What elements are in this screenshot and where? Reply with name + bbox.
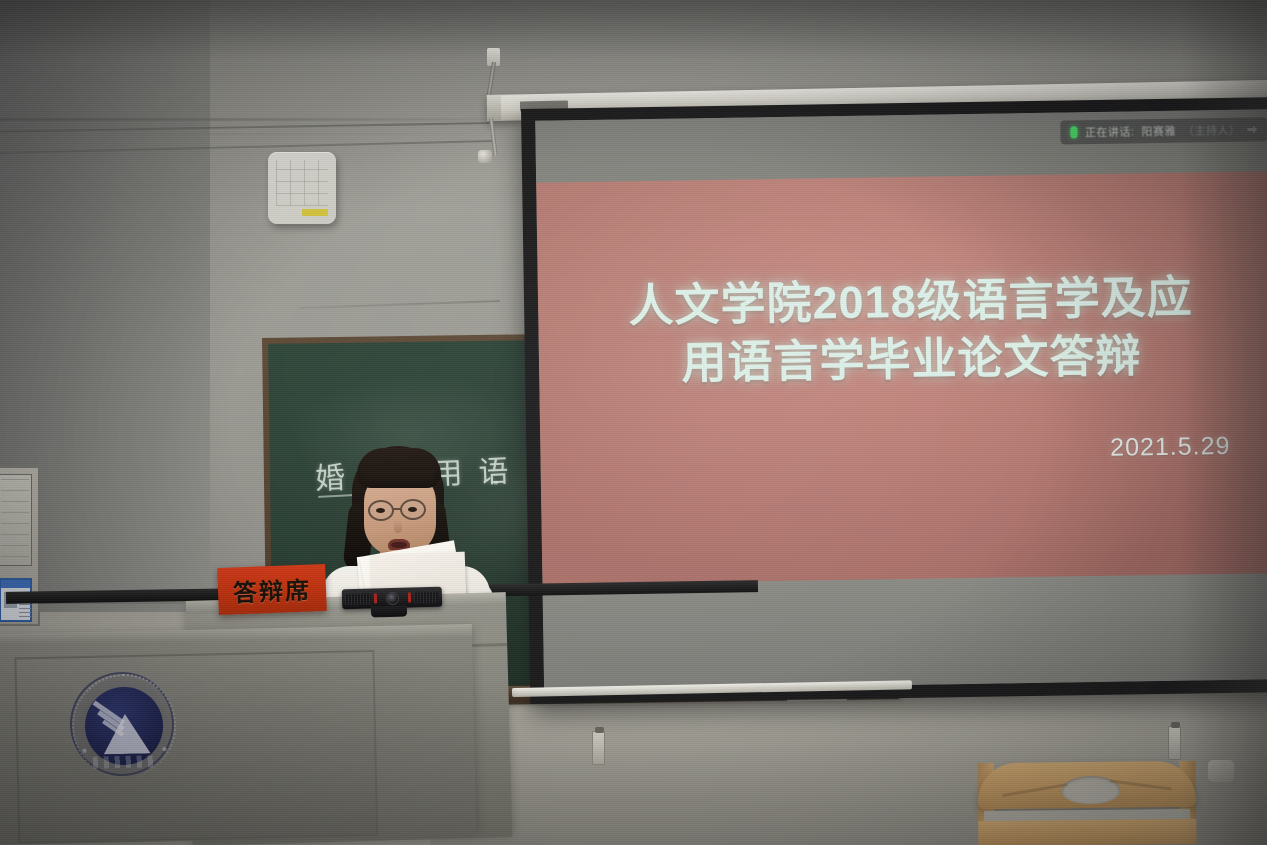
presenter-eye <box>376 508 385 513</box>
speaker-name-text: 阳赛雅 <box>1141 123 1176 140</box>
chair-wood-grain <box>1002 783 1068 797</box>
defense-seat-nameplate: 答辩席 <box>217 564 327 615</box>
presenter-eye <box>408 507 417 512</box>
presenter-bangs-shadow <box>360 470 436 486</box>
slide-title: 人文学院2018级语言学及应 用语言学毕业论文答辩 <box>578 268 1245 394</box>
presenter-nose <box>394 520 402 533</box>
wooden-chair <box>978 761 1197 845</box>
camera-speaker-mesh <box>414 592 438 604</box>
wall-seam <box>0 118 500 121</box>
screen-bracket-knob <box>478 150 492 163</box>
slide-title-line-2: 用语言学毕业论文答辩 <box>579 325 1245 393</box>
right-wall-shading <box>1180 0 1267 845</box>
nameplate-text: 答辩席 <box>232 571 311 609</box>
chair-backrest <box>978 761 1196 809</box>
projection-screen[interactable]: 人文学院2018级语言学及应 用语言学毕业论文答辩 2021.5.29 正在讲话… <box>521 97 1267 704</box>
university-emblem <box>69 671 175 777</box>
slide-title-line-1: 人文学院2018级语言学及应 <box>578 268 1244 336</box>
projection-screen-surface: 人文学院2018级语言学及应 用语言学毕业论文答辩 2021.5.29 正在讲话… <box>535 109 1267 691</box>
camera-lens-icon <box>386 592 399 605</box>
roller-end-cap <box>487 95 501 121</box>
fixture-screw <box>1171 722 1180 728</box>
emblem-star <box>162 747 166 751</box>
glasses-bridge <box>393 508 402 510</box>
notice-board-lines <box>1 479 29 563</box>
speaking-status-text: 正在讲话: <box>1085 123 1135 140</box>
camera-speaker-mesh <box>345 594 371 606</box>
wall-speaker-icon <box>268 152 336 224</box>
presenter-mouth-inner <box>391 542 407 548</box>
camera-stand <box>371 606 407 618</box>
wall-fixture <box>592 731 605 765</box>
notice-board-inner <box>0 474 32 566</box>
wall-seam <box>0 133 500 135</box>
camera-led <box>408 593 411 603</box>
notice-poster-header <box>1 580 30 588</box>
camera-led <box>374 593 377 603</box>
fixture-screw <box>595 727 604 733</box>
emblem-star <box>83 749 87 753</box>
speaker-grille <box>276 160 328 206</box>
podium-front-panel <box>14 650 378 843</box>
microphone-active-icon <box>1071 126 1078 138</box>
emblem-chinese-ring-text <box>93 755 157 768</box>
presentation-slide: 人文学院2018级语言学及应 用语言学毕业论文答辩 2021.5.29 <box>536 171 1267 585</box>
speaker-label-sticker <box>302 209 328 216</box>
ceiling-shadow <box>0 0 1267 60</box>
chair-lower-slat <box>978 819 1196 845</box>
classroom-photo-scene: 婚年 用语 人文学院2018级语言学及应 用语言学毕业论文答辩 2021.5.2… <box>0 0 1267 845</box>
